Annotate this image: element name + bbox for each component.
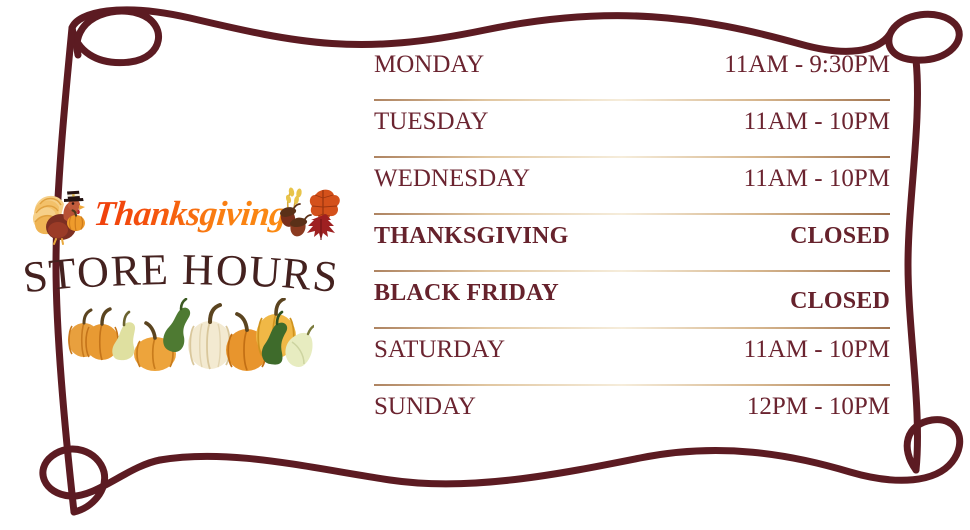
hours-row: MONDAY11AM - 9:30PM <box>374 44 890 101</box>
hours-row: SUNDAY12PM - 10PM <box>374 386 890 443</box>
hours-row: TUESDAY11AM - 10PM <box>374 101 890 158</box>
hours-day-label: SATURDAY <box>374 335 505 365</box>
turkey-with-pilgrim-hat-icon <box>28 188 94 246</box>
brand-block: Thanksgiving <box>16 186 346 386</box>
brand-script-row: Thanksgiving <box>16 186 346 248</box>
script-title: Thanksgiving <box>92 194 289 234</box>
hours-time-value: 11AM - 9:30PM <box>724 50 890 80</box>
hours-row: SATURDAY11AM - 10PM <box>374 329 890 386</box>
hours-day-label: MONDAY <box>374 50 484 80</box>
hours-row: WEDNESDAY11AM - 10PM <box>374 158 890 215</box>
hours-day-label: WEDNESDAY <box>374 164 530 194</box>
store-hours-table: MONDAY11AM - 9:30PMTUESDAY11AM - 10PMWED… <box>374 44 890 443</box>
acorns-and-autumn-leaves-icon <box>274 186 348 244</box>
hours-time-value: 11AM - 10PM <box>744 164 890 194</box>
hours-time-value: 12PM - 10PM <box>747 392 890 422</box>
hours-row: BLACK FRIDAYCLOSED <box>374 272 890 329</box>
thanksgiving-store-hours-poster: Thanksgiving <box>0 0 970 530</box>
hours-row: THANKSGIVINGCLOSED <box>374 215 890 272</box>
page-title: STORE HOURS <box>16 244 346 295</box>
pumpkin-and-gourd-row-icon <box>58 298 314 380</box>
hours-day-label: SUNDAY <box>374 392 476 422</box>
hours-time-value: 11AM - 10PM <box>744 107 890 137</box>
hours-time-value: CLOSED <box>790 286 890 316</box>
hours-time-value: 11AM - 10PM <box>744 335 890 365</box>
hours-day-label: TUESDAY <box>374 107 488 137</box>
hours-time-value: CLOSED <box>790 221 890 251</box>
page-title-text: STORE HOURS <box>23 245 339 294</box>
hours-day-label: BLACK FRIDAY <box>374 278 559 308</box>
hours-day-label: THANKSGIVING <box>374 221 568 251</box>
